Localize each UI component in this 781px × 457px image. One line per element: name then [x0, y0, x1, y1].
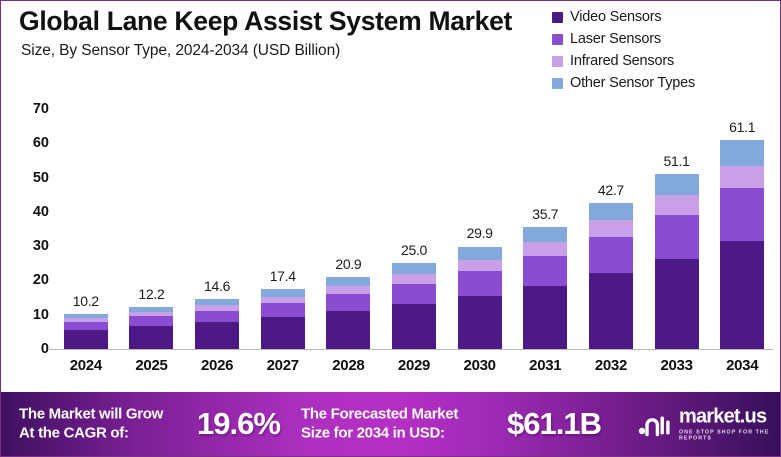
y-axis-tick-label: 40 — [5, 204, 49, 220]
bar-value-label: 42.7 — [598, 182, 624, 198]
bar-segment — [720, 166, 764, 188]
bar-value-label: 12.2 — [138, 286, 164, 302]
bar-segment — [458, 260, 502, 272]
y-axis-tick-label: 60 — [5, 135, 49, 151]
bar-segment — [523, 256, 567, 286]
bar-segment — [655, 195, 699, 214]
bar-stack[interactable] — [720, 140, 764, 349]
bar-value-label: 17.4 — [270, 268, 296, 284]
bar-value-label: 51.1 — [664, 153, 690, 169]
x-axis-tick-label: 2025 — [121, 357, 181, 374]
bar-segment — [458, 247, 502, 260]
chart-plot-area: 010203040506070 10.212.214.617.420.925.0… — [1, 91, 781, 391]
y-axis: 010203040506070 — [1, 91, 49, 349]
legend-item[interactable]: Laser Sensors — [552, 29, 780, 49]
bar-stack[interactable] — [261, 289, 305, 349]
y-axis-tick-label: 0 — [5, 341, 49, 357]
bar-stack[interactable] — [326, 277, 370, 349]
legend-item-label: Infrared Sensors — [570, 53, 674, 69]
bar-segment — [392, 274, 436, 284]
cagr-label-line2: At the CAGR of: — [19, 424, 163, 443]
y-axis-tick-label: 50 — [5, 170, 49, 186]
bar-segment — [589, 220, 633, 237]
legend-item-label: Laser Sensors — [570, 31, 661, 47]
bar-segment — [326, 286, 370, 294]
bar-segment — [523, 242, 567, 256]
bar-value-label: 61.1 — [729, 119, 755, 135]
legend-swatch-icon — [552, 12, 563, 23]
forecast-label-line1: The Forecasted Market — [301, 405, 458, 424]
legend-item[interactable]: Video Sensors — [552, 7, 780, 27]
x-axis-tick-label: 2030 — [450, 357, 510, 374]
x-axis-tick-label: 2034 — [712, 357, 772, 374]
bar-segment — [720, 140, 764, 166]
bar-segment — [655, 174, 699, 196]
bars-container: 10.212.214.617.420.925.029.935.742.751.1… — [53, 91, 775, 349]
logo-tagline: ONE STOP SHOP FOR THE REPORTS — [679, 430, 781, 442]
bar-segment — [458, 271, 502, 296]
bar-segment — [64, 322, 108, 330]
bar-stack[interactable] — [129, 307, 173, 349]
forecast-value: $61.1B — [507, 406, 601, 442]
y-axis-tick-label: 30 — [5, 238, 49, 254]
market-us-mark-icon — [638, 412, 672, 436]
bar-value-label: 20.9 — [335, 256, 361, 272]
bar-segment — [129, 316, 173, 326]
bar-value-label: 25.0 — [401, 242, 427, 258]
chart-legend: Video SensorsLaser SensorsInfrared Senso… — [552, 7, 780, 95]
bar-value-label: 10.2 — [73, 293, 99, 309]
bar-stack[interactable] — [392, 263, 436, 349]
bar-stack[interactable] — [64, 314, 108, 349]
bar-stack[interactable] — [523, 227, 567, 349]
bar-segment — [326, 294, 370, 311]
bar-segment — [589, 273, 633, 349]
x-axis-tick-label: 2029 — [384, 357, 444, 374]
bar-segment — [392, 284, 436, 305]
cagr-label-line1: The Market will Grow — [19, 405, 163, 424]
bar-value-label: 29.9 — [467, 225, 493, 241]
bar-segment — [129, 326, 173, 349]
bar-segment — [261, 317, 305, 349]
y-axis-tick-label: 70 — [5, 101, 49, 117]
cagr-label: The Market will Grow At the CAGR of: — [19, 405, 163, 443]
bar-segment — [523, 227, 567, 242]
legend-swatch-icon — [552, 56, 563, 67]
legend-swatch-icon — [552, 34, 563, 45]
cagr-value: 19.6% — [197, 406, 280, 442]
bar-stack[interactable] — [589, 203, 633, 349]
market-us-logo[interactable]: market.us ONE STOP SHOP FOR THE REPORTS — [638, 407, 781, 442]
y-axis-tick-label: 10 — [5, 307, 49, 323]
bar-segment — [589, 203, 633, 220]
bar-segment — [64, 330, 108, 349]
y-axis-tick-label: 20 — [5, 272, 49, 288]
bar-segment — [392, 263, 436, 274]
bar-segment — [261, 289, 305, 297]
x-axis-tick-label: 2032 — [581, 357, 641, 374]
chart-infographic: Global Lane Keep Assist System Market Si… — [0, 0, 781, 457]
logo-name: market.us — [679, 407, 781, 427]
bar-segment — [195, 311, 239, 323]
legend-item[interactable]: Infrared Sensors — [552, 51, 780, 71]
bar-segment — [261, 303, 305, 317]
legend-item[interactable]: Other Sensor Types — [552, 73, 780, 93]
bar-segment — [326, 311, 370, 349]
bar-segment — [523, 286, 567, 349]
bar-segment — [720, 241, 764, 349]
bar-segment — [589, 237, 633, 274]
bar-value-label: 35.7 — [532, 206, 558, 222]
x-axis-tick-label: 2033 — [647, 357, 707, 374]
bar-stack[interactable] — [458, 247, 502, 349]
x-axis-line — [49, 349, 773, 350]
chart-subtitle: Size, By Sensor Type, 2024-2034 (USD Bil… — [21, 42, 561, 60]
forecast-label: The Forecasted Market Size for 2034 in U… — [301, 405, 458, 443]
legend-item-label: Video Sensors — [570, 9, 661, 25]
x-axis-tick-label: 2031 — [515, 357, 575, 374]
forecast-label-line2: Size for 2034 in USD: — [301, 424, 458, 443]
x-axis-tick-label: 2026 — [187, 357, 247, 374]
page-title: Global Lane Keep Assist System Market — [19, 7, 559, 36]
legend-swatch-icon — [552, 78, 563, 89]
x-axis-tick-label: 2024 — [56, 357, 116, 374]
bar-stack[interactable] — [655, 174, 699, 349]
bar-value-label: 14.6 — [204, 278, 230, 294]
x-axis-tick-label: 2027 — [253, 357, 313, 374]
footer-banner: The Market will Grow At the CAGR of: 19.… — [1, 392, 781, 456]
bar-segment — [720, 188, 764, 241]
x-axis: 2024202520262027202820292030203120322033… — [53, 353, 775, 383]
bar-segment — [195, 322, 239, 349]
bar-segment — [655, 215, 699, 259]
bar-segment — [326, 277, 370, 286]
x-axis-tick-label: 2028 — [318, 357, 378, 374]
bar-stack[interactable] — [195, 299, 239, 349]
market-us-wordmark: market.us ONE STOP SHOP FOR THE REPORTS — [679, 407, 781, 442]
bar-segment — [458, 296, 502, 349]
bar-segment — [655, 259, 699, 349]
bar-segment — [392, 304, 436, 349]
legend-item-label: Other Sensor Types — [570, 75, 695, 91]
